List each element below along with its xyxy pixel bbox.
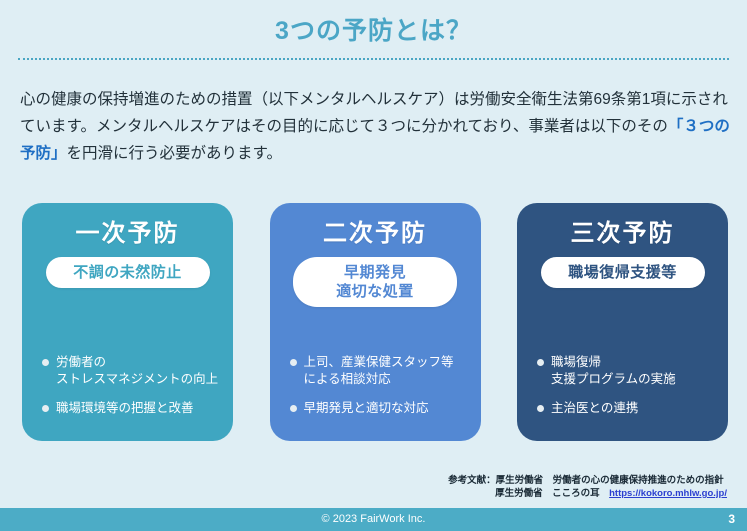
card-pill-label: 不調の未然防止 [46, 257, 210, 288]
bullet-dot-icon [290, 359, 297, 366]
list-item: 主治医との連携 [537, 400, 716, 417]
bullet-text: 労働者の ストレスマネジメントの向上 [56, 354, 218, 388]
body-lead-text: 心の健康の保持増進のための措置（以下メンタルヘルスケア）は労働安全衛生法第69条… [20, 91, 728, 135]
bullet-text: 早期発見と適切な対応 [304, 400, 429, 417]
list-item: 労働者の ストレスマネジメントの向上 [42, 354, 221, 388]
list-item: 職場環境等の把握と改善 [42, 400, 221, 417]
card-bullet-list: 上司、産業保健スタッフ等 による相談対応 早期発見と適切な対応 [282, 354, 469, 417]
body-tail-text: を円滑に行う必要があります。 [67, 145, 282, 162]
prevention-cards: 一次予防 不調の未然防止 労働者の ストレスマネジメントの向上 職場環境等の把握… [22, 203, 728, 441]
card-title: 三次予防 [571, 219, 675, 249]
bullet-dot-icon [42, 359, 49, 366]
page-title: 3つの予防とは？ [0, 14, 747, 48]
slide-root: 3つの予防とは？ 心の健康の保持増進のための措置（以下メンタルヘルスケア）は労働… [0, 0, 747, 531]
bullet-dot-icon [42, 405, 49, 412]
reference-line-2-label: 厚生労働省 こころの耳 [448, 488, 609, 499]
reference-link[interactable]: https://kokoro.mhlw.go.jp/ [609, 488, 727, 499]
card-bullet-list: 労働者の ストレスマネジメントの向上 職場環境等の把握と改善 [34, 354, 221, 417]
reference-line-2: 厚生労働省 こころの耳 https://kokoro.mhlw.go.jp/ [448, 487, 727, 500]
title-divider [18, 58, 729, 60]
card-bullet-list: 職場復帰 支援プログラムの実施 主治医との連携 [529, 354, 716, 417]
card-pill-label: 早期発見 適切な処置 [293, 257, 457, 307]
bullet-text: 主治医との連携 [551, 400, 638, 417]
card-tertiary-prevention[interactable]: 三次予防 職場復帰支援等 職場復帰 支援プログラムの実施 主治医との連携 [517, 203, 728, 441]
references-block: 参考文献：厚生労働省 労働者の心の健康保持推進のための指針 厚生労働省 こころの… [448, 474, 727, 500]
bullet-text: 職場環境等の把握と改善 [56, 400, 194, 417]
page-number: 3 [728, 508, 735, 531]
card-primary-prevention[interactable]: 一次予防 不調の未然防止 労働者の ストレスマネジメントの向上 職場環境等の把握… [22, 203, 233, 441]
card-secondary-prevention[interactable]: 二次予防 早期発見 適切な処置 上司、産業保健スタッフ等 による相談対応 早期発… [270, 203, 481, 441]
card-pill-label: 職場復帰支援等 [541, 257, 705, 288]
body-paragraph: 心の健康の保持増進のための措置（以下メンタルヘルスケア）は労働安全衛生法第69条… [20, 86, 732, 167]
copyright-text: © 2023 FairWork Inc. [0, 508, 747, 531]
reference-line-1: 参考文献：厚生労働省 労働者の心の健康保持推進のための指針 [448, 474, 727, 487]
bullet-dot-icon [537, 359, 544, 366]
bullet-text: 上司、産業保健スタッフ等 による相談対応 [304, 354, 454, 388]
title-area: 3つの予防とは？ [0, 14, 747, 48]
footer-bar: © 2023 FairWork Inc. 3 [0, 508, 747, 531]
card-title: 一次予防 [76, 219, 180, 249]
list-item: 職場復帰 支援プログラムの実施 [537, 354, 716, 388]
bullet-text: 職場復帰 支援プログラムの実施 [551, 354, 676, 388]
card-title: 二次予防 [323, 219, 427, 249]
list-item: 上司、産業保健スタッフ等 による相談対応 [290, 354, 469, 388]
list-item: 早期発見と適切な対応 [290, 400, 469, 417]
bullet-dot-icon [290, 405, 297, 412]
bullet-dot-icon [537, 405, 544, 412]
